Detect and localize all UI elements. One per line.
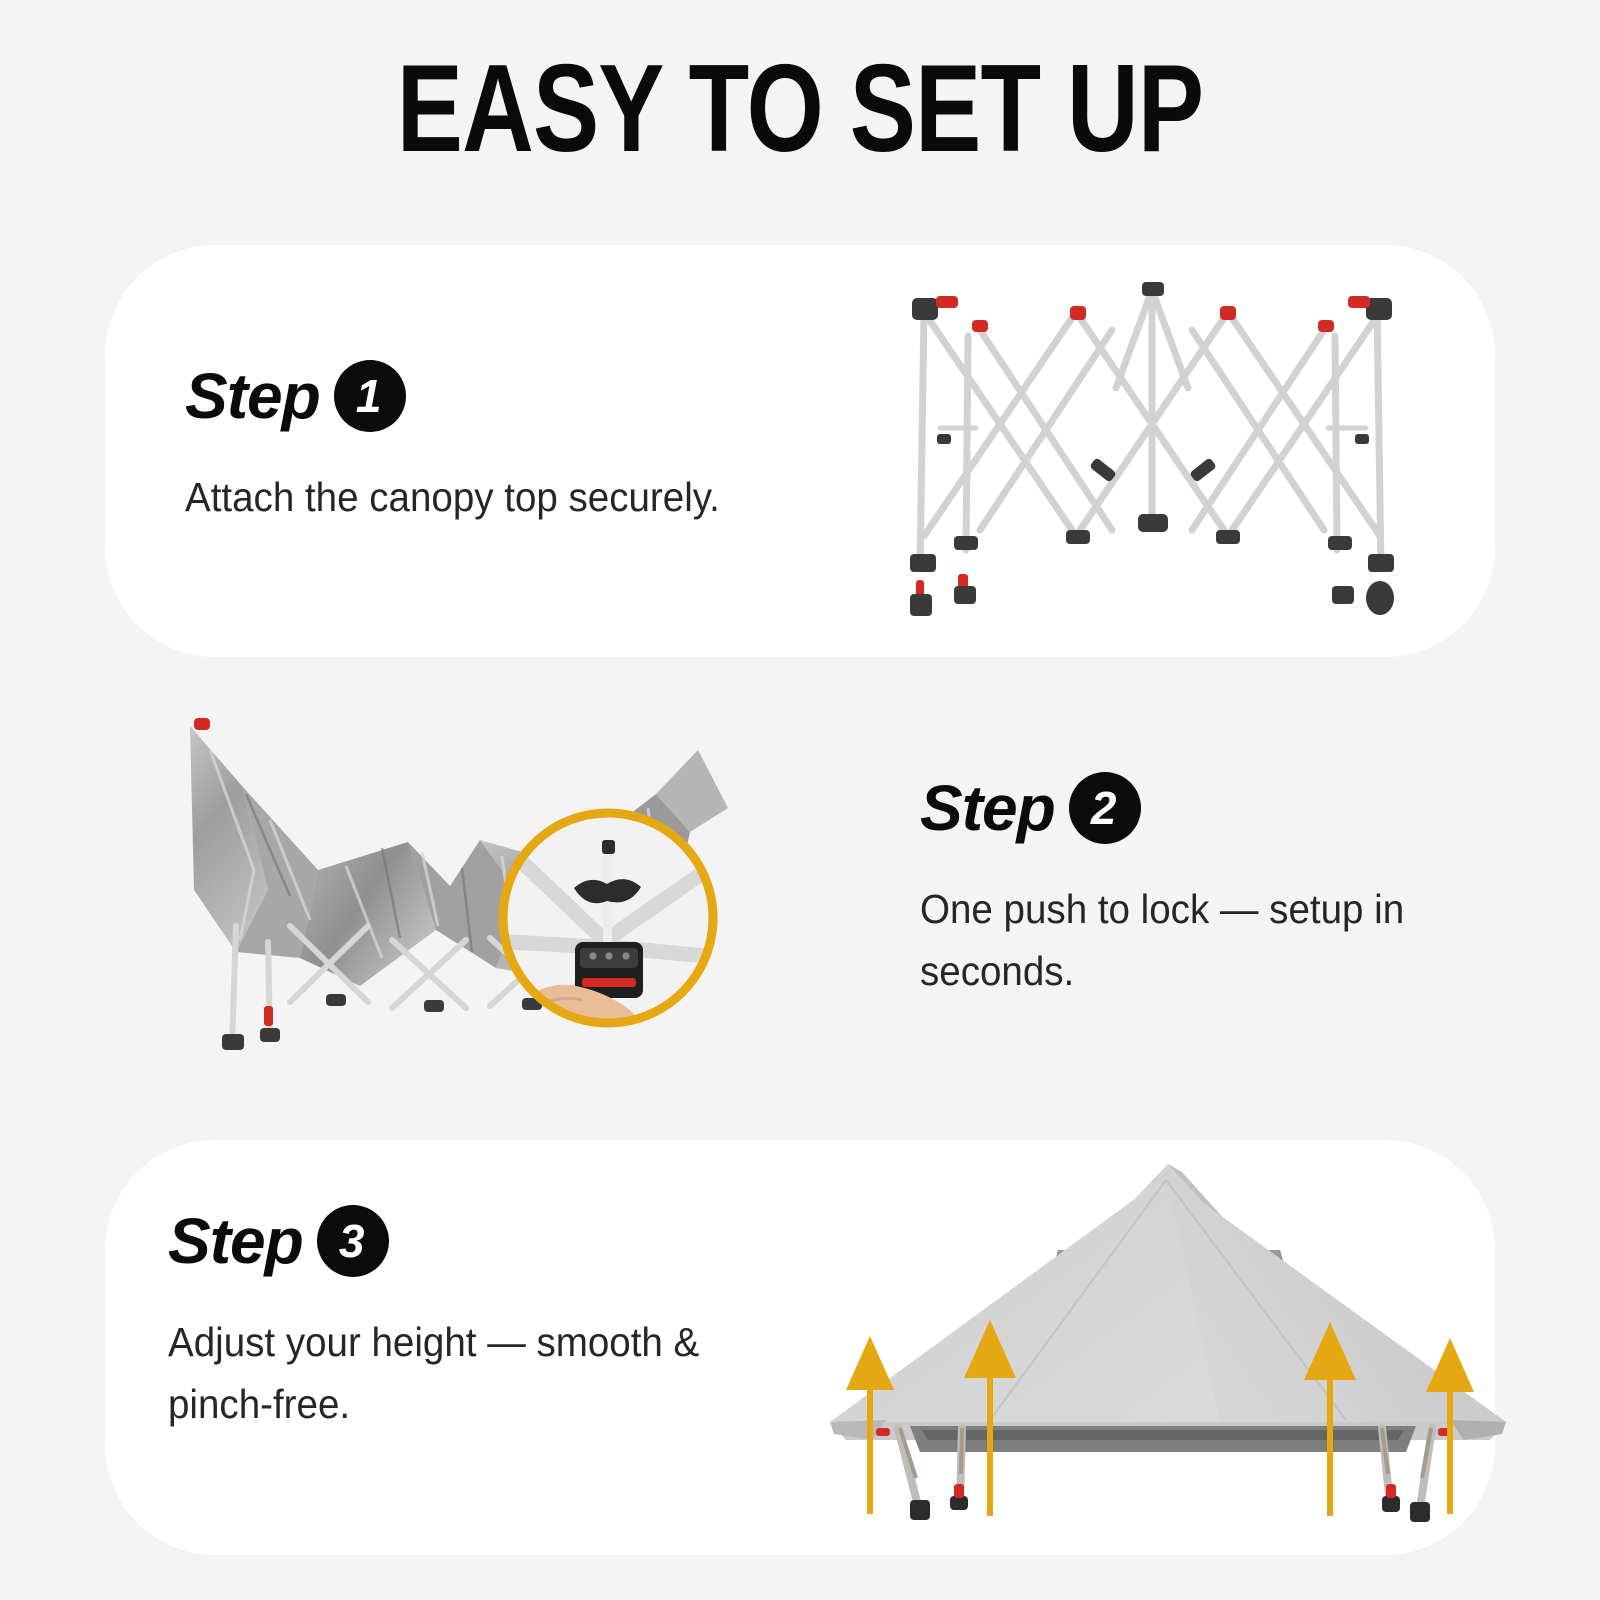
canopy-roof-icon bbox=[830, 1164, 1506, 1452]
step-1-number-badge: 1 bbox=[334, 360, 406, 432]
infographic-page: EASY TO SET UP Step 1 Attach the canopy … bbox=[0, 0, 1600, 1600]
step-2-illustration bbox=[150, 690, 750, 1080]
step-2-description: One push to lock — setup in seconds. bbox=[920, 878, 1522, 1003]
step-3-description: Adjust your height — smooth & pinch-free… bbox=[168, 1311, 770, 1436]
step-3-label: Step bbox=[168, 1209, 303, 1273]
step-1-heading: Step 1 bbox=[185, 360, 754, 432]
frame-foot-icon bbox=[910, 581, 1394, 616]
step-2-number-badge: 2 bbox=[1069, 772, 1141, 844]
step-2-label: Step bbox=[920, 776, 1055, 840]
step-1-illustration bbox=[880, 268, 1425, 628]
step-1-description: Attach the canopy top securely. bbox=[185, 466, 720, 528]
step-3-heading: Step 3 bbox=[168, 1205, 808, 1277]
page-title: EASY TO SET UP bbox=[160, 46, 1440, 172]
step-1-text-block: Step 1 Attach the canopy top securely. bbox=[185, 360, 754, 528]
step-3-number-badge: 3 bbox=[317, 1205, 389, 1277]
step-3-text-block: Step 3 Adjust your height — smooth & pin… bbox=[168, 1205, 808, 1436]
step-2-heading: Step 2 bbox=[920, 772, 1560, 844]
step-1-label: Step bbox=[185, 364, 320, 428]
step-3-illustration bbox=[790, 1122, 1520, 1542]
step-2-text-block: Step 2 One push to lock — setup in secon… bbox=[920, 772, 1560, 1003]
